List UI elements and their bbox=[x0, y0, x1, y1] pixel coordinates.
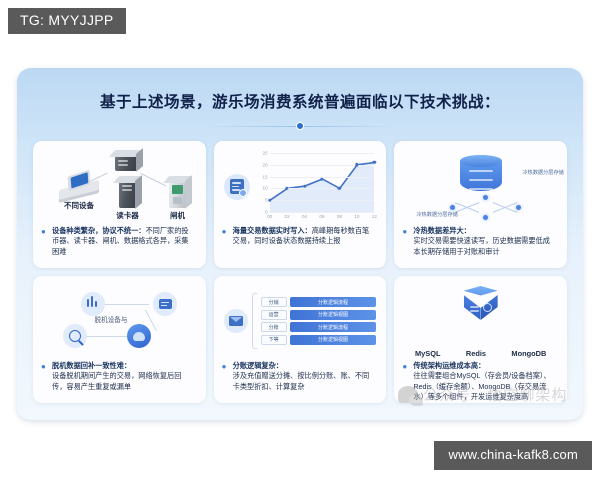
challenge-card-grid: 不同设备 读卡器 bbox=[33, 141, 567, 403]
card-hot-cold-data[interactable]: 冷热数据分层存储 冷热数据分层存储 ● 冷热数据差异大： 实时交易需要快速读写，… bbox=[394, 141, 567, 268]
stack-illustration: MySQL Redis MongoDB bbox=[402, 282, 559, 360]
card-3-lead: 冷热数据差异大： bbox=[413, 226, 471, 235]
ledger-row-tag: 运营 bbox=[261, 310, 287, 320]
card-5-text: ● 分账逻辑复杂： 涉及充值赠送分摊、按比例分账、账、不同卡类型折扣、计算复杂 bbox=[222, 360, 379, 397]
offline-illustration: 脱机设备与 bbox=[41, 282, 198, 360]
database-cube-icon bbox=[464, 286, 498, 324]
chart-y-tick: 10 bbox=[263, 186, 268, 191]
ledger-row-pill: 分账逻辑流程 bbox=[290, 322, 377, 332]
card-6-body: 往往需要组合MySQL（存会员/设备档案）、Redis（缓存余额）、MongoD… bbox=[413, 371, 550, 401]
card-4-text: ● 脱机数据回补一致性难： 设备脱机期间产生的交易，网络恢复后回传，容易产生重复… bbox=[41, 360, 198, 397]
bullet-icon: ● bbox=[41, 361, 46, 373]
bullet-icon: ● bbox=[402, 226, 407, 238]
ledger-row-tag: 分销 bbox=[261, 297, 287, 307]
pos-terminal-icon: 不同设备 bbox=[59, 185, 99, 198]
db-node-left bbox=[450, 205, 455, 210]
chart-y-tick: 15 bbox=[263, 174, 268, 179]
card-device-diversity[interactable]: 不同设备 读卡器 bbox=[33, 141, 206, 268]
ledger-row[interactable]: 运营 分账逻辑视图 bbox=[261, 310, 377, 320]
challenges-panel: 基于上述场景，游乐场消费系统普遍面临以下技术挑战： bbox=[17, 68, 583, 420]
message-icon bbox=[153, 292, 177, 316]
device-label-1: 读卡器 bbox=[116, 210, 139, 221]
screenshot-root: TG: MYYJJPP 基于上述场景，游乐场消费系统普遍面临以下技术挑战： bbox=[0, 0, 600, 480]
site-url-badge: www.china-kafk8.com bbox=[434, 441, 592, 470]
device-link-right bbox=[140, 173, 166, 186]
ledger-row-pill: 分账逻辑视图 bbox=[290, 310, 377, 320]
card-ledger-complexity[interactable]: 分销 分账逻辑流程 运营 分账逻辑视图 分账 分账逻辑流程 bbox=[214, 276, 387, 403]
stack-name-2: MongoDB bbox=[511, 349, 546, 358]
card-4-lead: 脱机数据回补一致性难： bbox=[52, 361, 131, 370]
divider-dot bbox=[296, 122, 304, 130]
device-illustration: 不同设备 读卡器 bbox=[41, 147, 198, 225]
chart-gridline bbox=[270, 200, 375, 201]
chart-gridline bbox=[270, 165, 375, 166]
card-6-lead: 传统架构运维成本高： bbox=[413, 361, 485, 370]
db-tag-1: 冷热数据分层存储 bbox=[416, 211, 458, 218]
db-node-right bbox=[516, 205, 521, 210]
db-tag-0: 冷热数据分层存储 bbox=[522, 169, 564, 176]
ledger-envelope-icon bbox=[224, 309, 248, 333]
bullet-icon: ● bbox=[222, 361, 227, 373]
device-label-2: 闸机 bbox=[170, 210, 185, 221]
chart-x-tick: 12 bbox=[372, 214, 377, 219]
device-bars-icon bbox=[81, 292, 105, 316]
db-node-top bbox=[483, 195, 488, 200]
card-2-text: ● 海量交易数据实时写入：高峰期每秒数百笔交易，同时设备状态数据持续上报 bbox=[222, 225, 379, 262]
title-divider bbox=[205, 121, 395, 131]
ledger-row[interactable]: 分账 分账逻辑流程 bbox=[261, 322, 377, 332]
ledger-row[interactable]: 分销 分账逻辑流程 bbox=[261, 297, 377, 307]
card-5-lead: 分账逻辑复杂： bbox=[233, 361, 283, 370]
card-5-body: 涉及充值赠送分摊、按比例分账、账、不同卡类型折扣、计算复杂 bbox=[233, 371, 370, 390]
card-offline-reconcile[interactable]: 脱机设备与 ● 脱机数据回补一致性难： 设备脱机期间产生的交易，网络恢复后回传，… bbox=[33, 276, 206, 403]
search-icon bbox=[63, 324, 87, 348]
chart-gridline bbox=[270, 212, 375, 213]
chart-x-tick: 06 bbox=[319, 214, 324, 219]
off-link-bottom bbox=[85, 336, 129, 337]
ledger-flow-illustration: 分销 分账逻辑流程 运营 分账逻辑视图 分账 分账逻辑流程 bbox=[222, 282, 379, 360]
chart-x-tick: 04 bbox=[302, 214, 307, 219]
page-title: 基于上述场景，游乐场消费系统普遍面临以下技术挑战： bbox=[33, 90, 567, 112]
database-cylinder-icon bbox=[460, 155, 502, 195]
chart-x-tick: 10 bbox=[354, 214, 359, 219]
chart-y-tick: 20 bbox=[263, 162, 268, 167]
chart-x-tick: 00 bbox=[267, 214, 272, 219]
stack-name-0: MySQL bbox=[415, 349, 440, 358]
flow-spine bbox=[252, 293, 257, 349]
ledger-row-list: 分销 分账逻辑流程 运营 分账逻辑视图 分账 分账逻辑流程 bbox=[261, 297, 377, 345]
chart-data-point bbox=[373, 161, 376, 164]
ledger-row[interactable]: 下等 分账逻辑视图 bbox=[261, 335, 377, 345]
card-3-body: 实时交易需要快速读写，历史数据需要低成本长期存储用于对账和审计 bbox=[413, 236, 550, 255]
card-2-lead: 海量交易数据实时写入： bbox=[233, 226, 312, 235]
database-illustration: 冷热数据分层存储 冷热数据分层存储 bbox=[402, 147, 559, 225]
tg-handle-badge: TG: MYYJJPP bbox=[8, 8, 126, 34]
turnstile-gate-icon: 闸机 bbox=[169, 181, 186, 208]
chart-plot-area: 051015202500020406081012 bbox=[270, 153, 375, 212]
line-chart: 051015202500020406081012 bbox=[255, 149, 377, 225]
ledger-row-pill: 分账逻辑流程 bbox=[290, 297, 377, 307]
card-high-throughput-write[interactable]: 051015202500020406081012 ● 海量交易数据实时写入：高峰… bbox=[214, 141, 387, 268]
chart-x-tick: 08 bbox=[337, 214, 342, 219]
stack-name-list: MySQL Redis MongoDB bbox=[402, 349, 559, 358]
device-label-0: 不同设备 bbox=[64, 200, 94, 211]
card-4-body: 设备脱机期间产生的交易，网络恢复后回传，容易产生重复或漏单 bbox=[52, 371, 181, 390]
chart-series-svg bbox=[270, 153, 375, 212]
transaction-doc-icon bbox=[224, 174, 250, 200]
offline-label: 脱机设备与 bbox=[95, 314, 128, 324]
ledger-row-pill: 分账逻辑视图 bbox=[290, 335, 377, 345]
card-6-text: ● 传统架构运维成本高： 往往需要组合MySQL（存会员/设备档案）、Redis… bbox=[402, 360, 559, 403]
card-3-text: ● 冷热数据差异大： 实时交易需要快速读写，历史数据需要低成本长期存储用于对账和… bbox=[402, 225, 559, 262]
stack-name-1: Redis bbox=[466, 349, 486, 358]
bullet-icon: ● bbox=[402, 361, 407, 373]
bullet-icon: ● bbox=[222, 226, 227, 238]
card-ops-cost[interactable]: MySQL Redis MongoDB ● 传统架构运维成本高： 往往需要组合M… bbox=[394, 276, 567, 403]
throughput-chart: 051015202500020406081012 bbox=[222, 147, 379, 225]
cloud-node-icon bbox=[127, 324, 151, 348]
reader-tower-icon: 读卡器 bbox=[119, 181, 136, 208]
bullet-icon: ● bbox=[41, 226, 46, 238]
chart-gridline bbox=[270, 153, 375, 154]
card-1-lead: 设备种类繁杂，协议不统一： bbox=[52, 226, 145, 235]
card-reader-icon bbox=[115, 155, 137, 171]
card-1-text: ● 设备种类繁杂，协议不统一：不同厂家的投币器、读卡器、闸机、数据格式各异，采集… bbox=[41, 225, 198, 262]
ledger-row-tag: 下等 bbox=[261, 335, 287, 345]
ledger-row-tag: 分账 bbox=[261, 322, 287, 332]
chart-y-tick: 25 bbox=[263, 151, 268, 156]
db-node-bottom bbox=[483, 215, 488, 220]
chart-x-tick: 02 bbox=[285, 214, 290, 219]
off-link-top bbox=[105, 304, 149, 305]
